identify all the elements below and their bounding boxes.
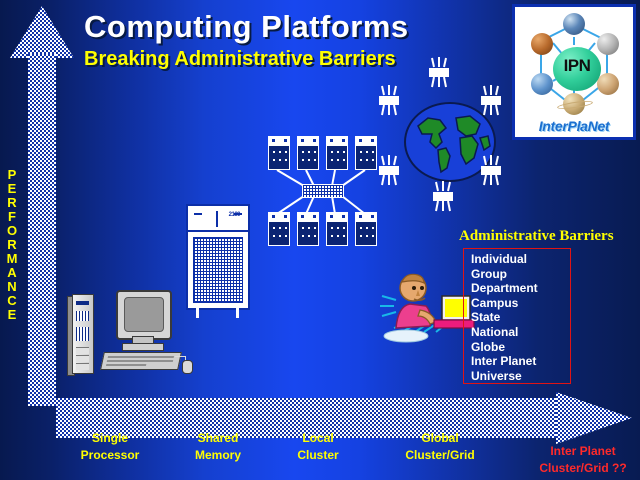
list-item: Campus [471,296,579,311]
interplanet-logo: IPN InterPlaNet [512,4,636,140]
stage-line-1: Single [60,430,160,447]
tower-vent [76,327,89,341]
grid-cluster-icon [424,56,454,90]
server-panel-text: 2100 [229,212,240,218]
crt-monitor [116,290,172,340]
perf-letter: E [3,308,21,322]
planet-moon-icon [597,33,619,55]
list-item: Inter Planet [471,354,579,369]
stage-label-global-cluster-grid: Global Cluster/Grid [388,430,492,464]
grid-cluster-icon [374,84,404,118]
person-at-laptop-illustration [380,266,476,346]
list-item: National [471,325,579,340]
cluster-node [355,212,377,246]
monitor-screen [124,297,164,332]
server-grill-panel [186,230,250,310]
tower-slot [76,301,89,305]
list-item: Globe [471,340,579,355]
page-subtitle: Breaking Administrative Barriers [84,48,396,71]
planet-mars-icon [531,33,553,55]
list-item: Universe [471,369,579,384]
grid-cluster-icon [428,180,458,214]
grid-cluster-icon [476,84,506,118]
local-cluster-illustration [266,132,378,250]
list-item: Individual [471,252,579,267]
perf-letter: O [3,224,21,238]
monitor-base [122,343,164,351]
cluster-node [268,212,290,246]
desktop-computer-illustration [58,272,194,392]
cluster-node [268,136,290,170]
stage-line-2: Memory [168,447,268,464]
perf-letter: C [3,294,21,308]
stage-label-inter-planet-cluster-grid: Inter Planet Cluster/Grid ?? [528,443,638,477]
logo-wordmark: InterPlaNet [515,118,633,134]
server-leg [196,308,199,318]
tower-vent [76,311,89,321]
list-item: State [471,310,579,325]
cluster-node [326,136,348,170]
mouse [182,360,193,374]
perf-letter: A [3,266,21,280]
stage-line-1: Inter Planet [528,443,638,460]
planet-earth-icon [563,13,585,35]
stage-label-local-cluster: Local Cluster [272,430,364,464]
perf-letter: P [3,168,21,182]
tower-drive-bay [76,355,89,362]
tower-drive-bay [76,363,89,370]
stage-line-2: Cluster/Grid ?? [528,460,638,477]
server-vent-grill [193,237,243,303]
list-item: Group [471,267,579,282]
stage-line-1: Local [272,430,364,447]
cluster-node [297,212,319,246]
list-item: Department [471,281,579,296]
grid-cluster-icon [374,154,404,188]
shared-memory-server: 2100 [186,204,252,326]
cluster-node [326,212,348,246]
cluster-switch [302,184,344,198]
stage-label-shared-memory: Shared Memory [168,430,268,464]
planet-neptune-icon [531,73,553,95]
cushion [384,330,428,342]
stage-label-single-processor: Single Processor [60,430,160,464]
stage-line-2: Processor [60,447,160,464]
stage-line-2: Cluster [272,447,364,464]
right-arrow-head [556,392,632,444]
planet-jupiter-icon [597,73,619,95]
up-arrow-head [10,6,74,58]
perf-letter: N [3,280,21,294]
perf-letter: F [3,210,21,224]
stage-line-1: Global [388,430,492,447]
stage-line-2: Cluster/Grid [388,447,492,464]
cluster-node [297,136,319,170]
global-grid-illustration [372,56,512,216]
stage-line-1: Shared [168,430,268,447]
performance-axis-label: P E R F O R M A N C E [3,168,21,322]
up-arrow-shaft [28,54,56,406]
computer-tower [72,294,94,374]
administrative-barriers-title: Administrative Barriers [459,228,614,245]
eye [420,286,424,290]
server-top-panel: 2100 [186,204,250,232]
eye [412,286,416,290]
perf-letter: M [3,252,21,266]
slide-canvas: Computing Platforms Breaking Administrat… [0,0,640,480]
logo-core-label: IPN [553,56,601,76]
administrative-barriers-list: Individual Group Department Campus State… [471,252,579,383]
perf-letter: E [3,182,21,196]
perf-letter: R [3,238,21,252]
perf-letter: R [3,196,21,210]
person-laptop-art [380,266,476,346]
page-title: Computing Platforms [84,9,409,45]
grid-cluster-icon [476,154,506,188]
keyboard [100,352,182,370]
server-leg [236,308,239,318]
logo-core-sphere: IPN [553,47,601,91]
tower-drive-bay [76,347,89,354]
